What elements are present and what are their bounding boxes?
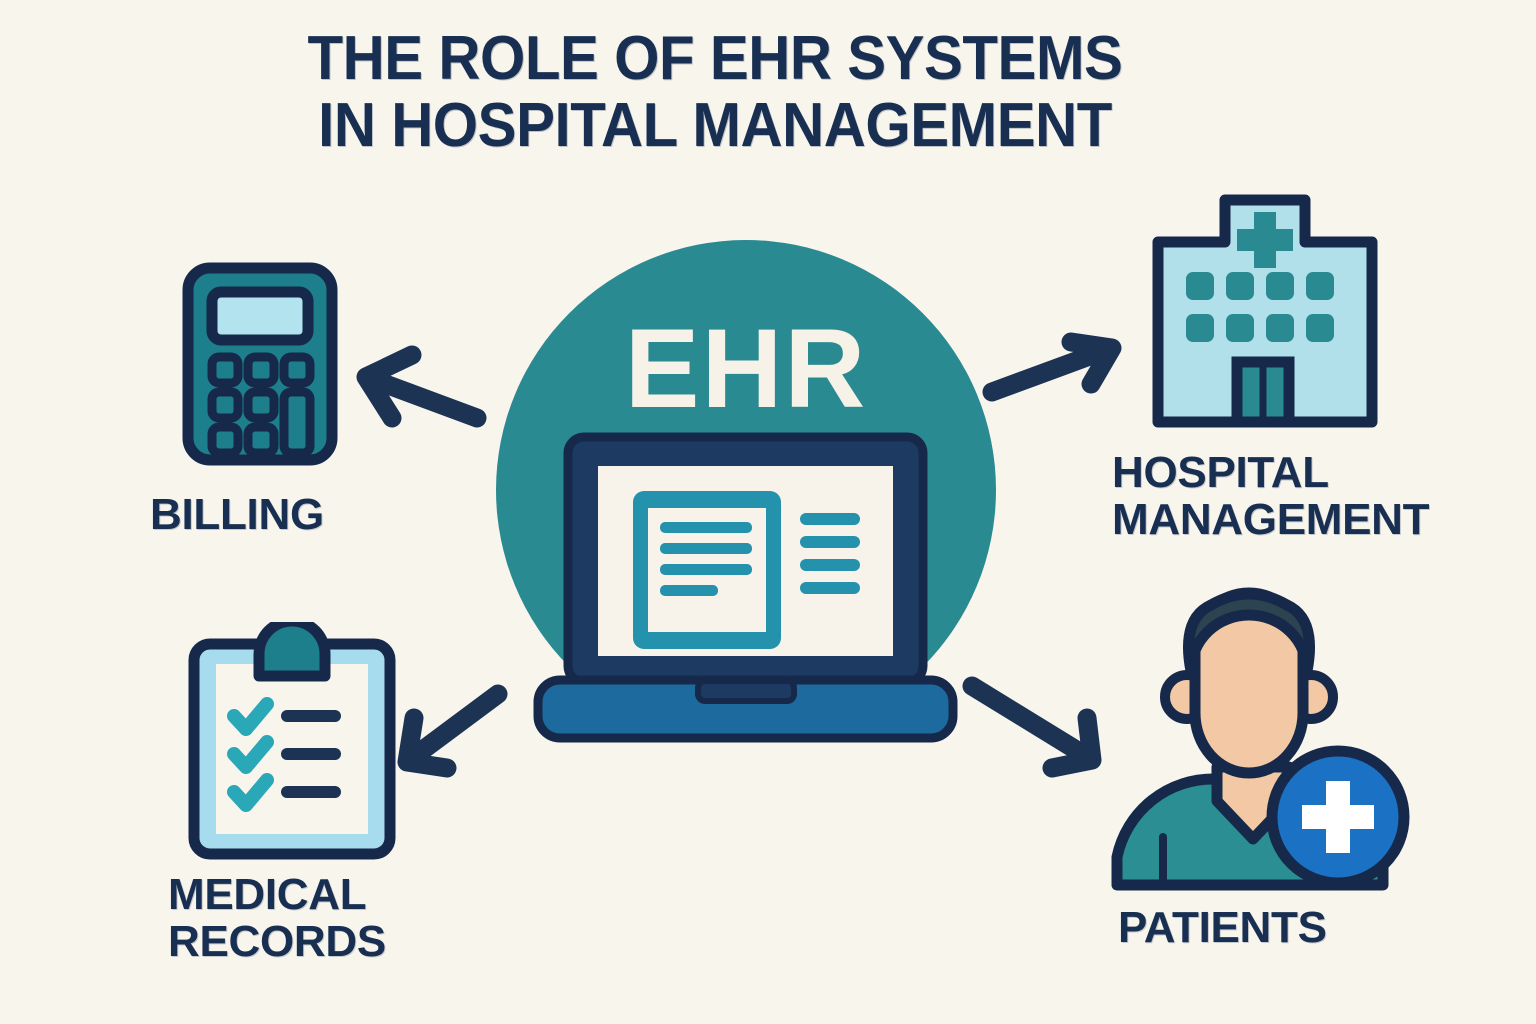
- calculator-display: [212, 292, 308, 340]
- label-line-1: Medical: [168, 870, 366, 919]
- infographic-canvas: The Role of EHR Systems in Hospital Mana…: [0, 0, 1536, 1024]
- trackpad-icon: [698, 681, 794, 701]
- checkmark-icons: [234, 704, 267, 805]
- hospital-building-icon: [1150, 190, 1380, 430]
- arrow-to-billing: [366, 355, 477, 418]
- hospital-door: [1237, 362, 1289, 422]
- label-line-2: Management: [1112, 495, 1429, 544]
- center-ehr-node: EHR: [480, 225, 1020, 755]
- patient-person-icon: [1105, 585, 1425, 895]
- label-line-2: Records: [168, 917, 386, 966]
- clipboard-clip: [259, 622, 325, 676]
- calculator-icon: [180, 262, 340, 467]
- plus-badge-icon: [1272, 751, 1404, 883]
- label-line-1: Hospital: [1112, 448, 1329, 497]
- calculator-keys: [212, 357, 310, 453]
- label-billing: Billing: [150, 492, 324, 539]
- label-medical-records: Medical Records: [168, 872, 386, 965]
- label-patients: Patients: [1118, 905, 1327, 952]
- clipboard-checklist-icon: [186, 622, 398, 862]
- laptop-icon: [538, 437, 953, 738]
- center-label: EHR: [625, 306, 867, 431]
- label-hospital-management: Hospital Management: [1112, 450, 1429, 543]
